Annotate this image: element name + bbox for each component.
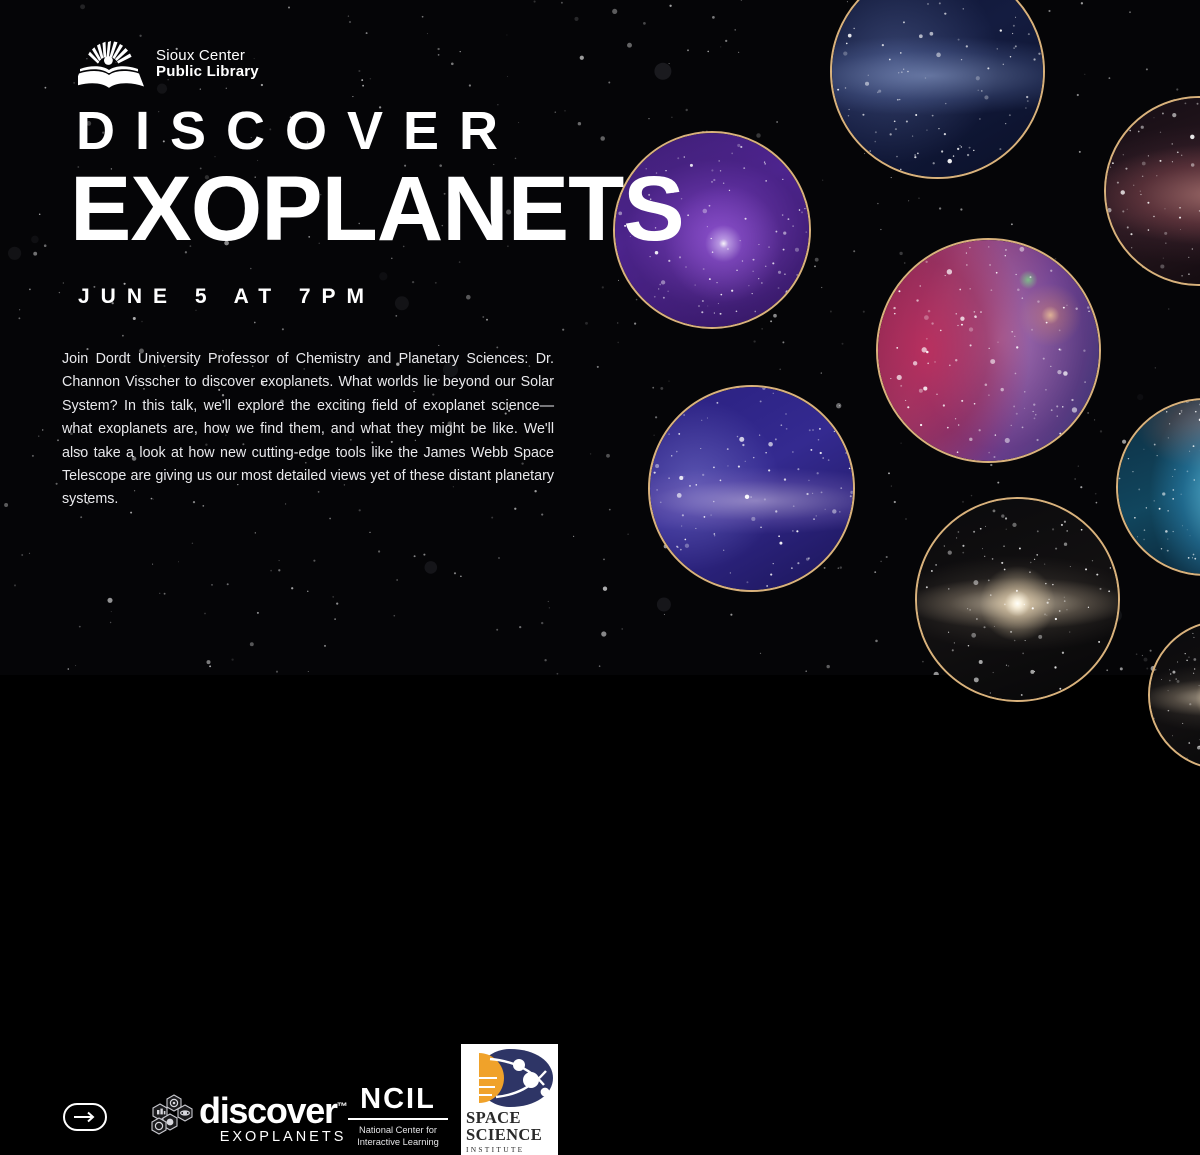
hexagon-cluster-icon (141, 1091, 197, 1143)
ssi-line3: INSTITUTE (466, 1145, 553, 1154)
ssi-line2: SCIENCE (466, 1126, 553, 1143)
library-logo: Sioux Center Public Library (78, 38, 259, 90)
library-name-line2: Public Library (156, 64, 259, 80)
event-datetime: JUNE 5 AT 7PM (78, 285, 375, 309)
library-name-line1: Sioux Center (156, 48, 259, 64)
astro-circle-andromeda-galaxy (915, 497, 1120, 702)
ncil-logo: NCIL National Center for Interactive Lea… (348, 1085, 448, 1148)
ncil-subtitle-line1: National Center for (348, 1124, 448, 1136)
astro-circle-pink-nebula (876, 238, 1101, 463)
ncil-divider (348, 1118, 448, 1120)
space-science-institute-logo: SPACE SCIENCE INSTITUTE (461, 1044, 558, 1155)
ssi-line1: SPACE (466, 1109, 553, 1126)
astro-circle-stars (878, 240, 1099, 461)
discover-exoplanets-logo: discover™ EXOPLANETS (141, 1091, 346, 1145)
sun-orbit-emblem-icon (466, 1049, 553, 1107)
astro-circle-stars (650, 387, 853, 590)
ncil-subtitle-line2: Interactive Learning (348, 1136, 448, 1148)
trademark-mark: ™ (337, 1101, 347, 1113)
ncil-acronym: NCIL (348, 1085, 448, 1114)
footer-logos: discover™ EXOPLANETS NCIL National Cente… (0, 525, 600, 675)
heading-exoplanets: EXOPLANETS (70, 163, 684, 255)
heading-discover: DISCOVER (76, 104, 518, 158)
poster-content: Sioux Center Public Library DISCOVER EXO… (0, 0, 600, 675)
event-description: Join Dordt University Professor of Chemi… (62, 348, 554, 512)
arrow-right-badge[interactable] (63, 1103, 107, 1131)
discover-wordmark: discover (199, 1090, 337, 1131)
exoplanets-subword: EXOPLANETS (199, 1129, 346, 1145)
astro-circle-stars (917, 499, 1118, 700)
arrow-right-icon (72, 1111, 98, 1123)
open-book-icon (78, 38, 150, 90)
astro-circle-indigo-milky-way (648, 385, 855, 592)
